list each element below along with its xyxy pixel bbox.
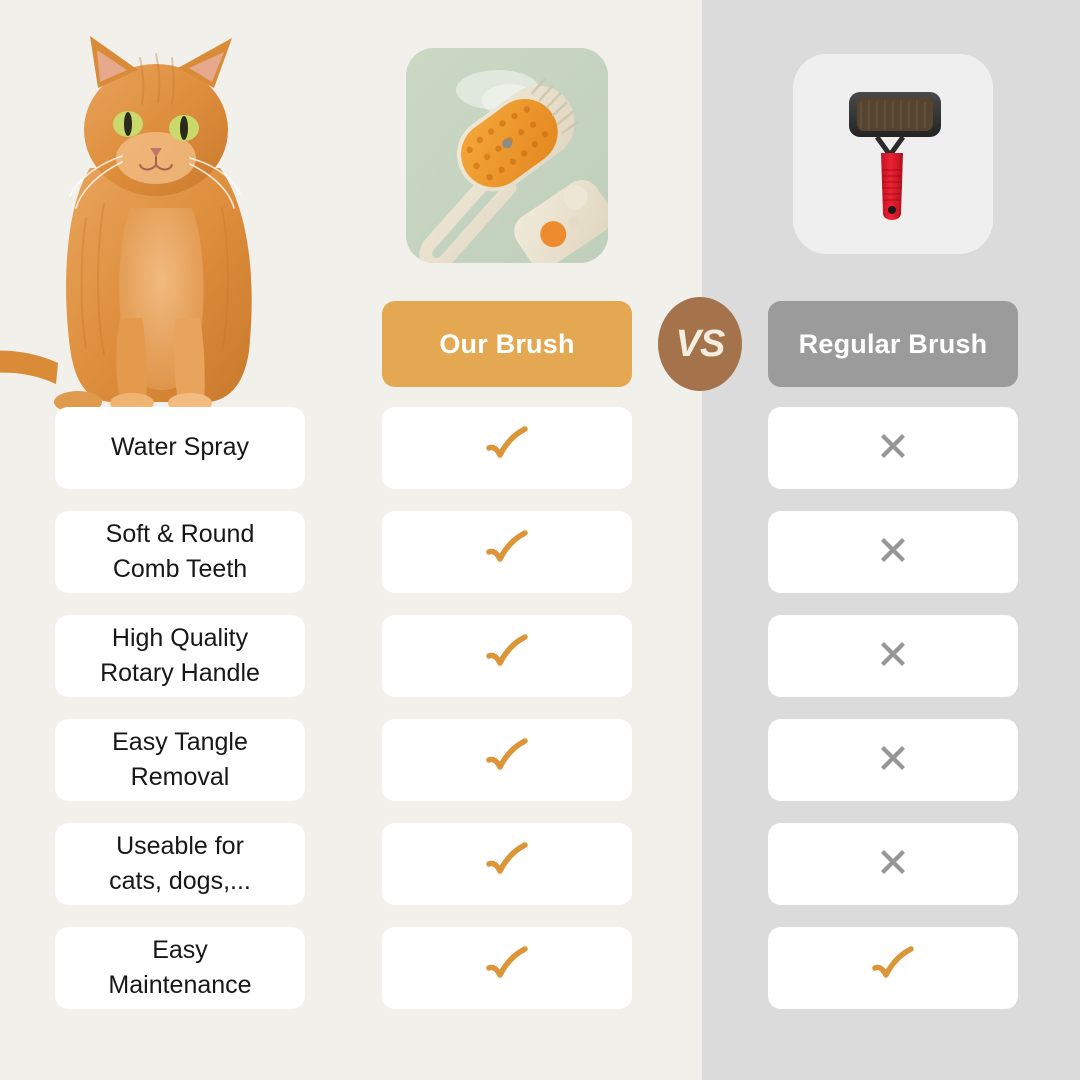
feature-label-text: Easy TangleRemoval	[112, 725, 248, 796]
our-brush-cell	[382, 927, 632, 1009]
feature-label-text: High QualityRotary Handle	[100, 621, 260, 692]
regular-brush-cell	[768, 407, 1018, 489]
our-brush-cell	[382, 511, 632, 593]
regular-brush-cell	[768, 927, 1018, 1009]
regular-brush-cell	[768, 511, 1018, 593]
cross-icon	[875, 532, 911, 573]
table-row: EasyMaintenance	[0, 927, 1080, 1009]
slicker-brush-product-photo	[793, 54, 993, 254]
our-brush-cell	[382, 615, 632, 697]
vs-badge: VS	[658, 297, 742, 391]
check-icon	[484, 426, 530, 471]
regular-brush-cell	[768, 823, 1018, 905]
regular-brush-cell	[768, 719, 1018, 801]
vs-badge-label: VS	[676, 323, 725, 366]
cross-icon	[875, 844, 911, 885]
table-row: Useable forcats, dogs,...	[0, 823, 1080, 905]
check-icon	[484, 738, 530, 783]
our-brush-cell	[382, 823, 632, 905]
cross-icon	[875, 740, 911, 781]
feature-label-cell: Useable forcats, dogs,...	[55, 823, 305, 905]
check-icon	[484, 634, 530, 679]
regular-brush-cell	[768, 615, 1018, 697]
check-icon	[484, 842, 530, 887]
check-icon	[484, 530, 530, 575]
table-row: Water Spray	[0, 407, 1080, 489]
our-brush-header[interactable]: Our Brush	[382, 301, 632, 387]
cross-icon	[875, 428, 911, 469]
check-icon	[870, 946, 916, 991]
feature-label-cell: Water Spray	[55, 407, 305, 489]
orange-tabby-cat-photo	[0, 18, 330, 428]
steam-brush-product-photo	[406, 48, 608, 263]
our-brush-cell	[382, 407, 632, 489]
comparison-infographic: Our Brush VS Regular Brush Water SpraySo…	[0, 0, 1080, 1080]
feature-label-text: Useable forcats, dogs,...	[109, 829, 251, 900]
feature-label-text: Water Spray	[111, 430, 249, 466]
feature-label-cell: Easy TangleRemoval	[55, 719, 305, 801]
feature-label-text: EasyMaintenance	[108, 933, 251, 1004]
feature-label-cell: High QualityRotary Handle	[55, 615, 305, 697]
regular-brush-header-label: Regular Brush	[799, 329, 988, 360]
feature-label-text: Soft & RoundComb Teeth	[106, 517, 255, 588]
check-icon	[484, 946, 530, 991]
our-brush-cell	[382, 719, 632, 801]
table-row: Soft & RoundComb Teeth	[0, 511, 1080, 593]
regular-brush-header[interactable]: Regular Brush	[768, 301, 1018, 387]
feature-label-cell: EasyMaintenance	[55, 927, 305, 1009]
cross-icon	[875, 636, 911, 677]
feature-label-cell: Soft & RoundComb Teeth	[55, 511, 305, 593]
table-row: Easy TangleRemoval	[0, 719, 1080, 801]
our-brush-header-label: Our Brush	[439, 329, 574, 360]
table-row: High QualityRotary Handle	[0, 615, 1080, 697]
